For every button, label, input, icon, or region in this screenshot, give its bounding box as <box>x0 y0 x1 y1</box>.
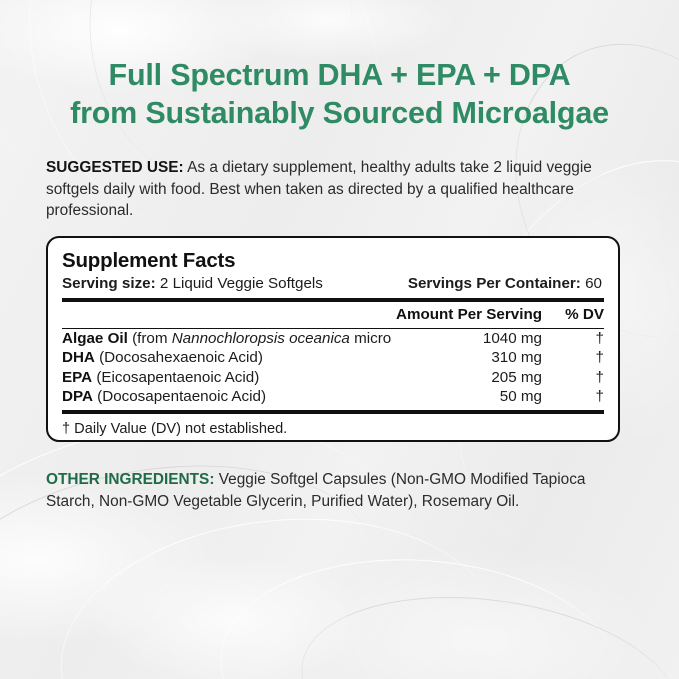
table-row: EPA (Eicosapentaenoic Acid) 205 mg † <box>62 368 604 387</box>
suggested-use-paragraph: SUGGESTED USE: As a dietary supplement, … <box>46 157 634 222</box>
suggested-use-label: SUGGESTED USE: <box>46 159 184 176</box>
nutrient-name-bold: Algae Oil <box>62 330 128 347</box>
other-ingredients-paragraph: OTHER INGREDIENTS: Veggie Softgel Capsul… <box>46 469 634 512</box>
nutrient-daily-value: † <box>542 348 604 367</box>
nutrient-daily-value: † <box>542 387 604 406</box>
nutrient-name-pre: (Docosahexaenoic Acid) <box>95 349 263 366</box>
servings-per-container: Servings Per Container: 60 <box>408 274 602 294</box>
serving-size-label: Serving size: <box>62 275 156 292</box>
nutrient-name-pre: (Eicosapentaenoic Acid) <box>92 369 259 386</box>
page-title-line-2: from Sustainably Sourced Microalgae <box>40 94 639 132</box>
nutrient-daily-value: † <box>542 329 604 348</box>
nutrient-amount: 50 mg <box>392 387 542 406</box>
nutrient-daily-value: † <box>542 368 604 387</box>
nutrient-name: Algae Oil (from Nannochloropsis oceanica… <box>62 329 392 348</box>
supplement-facts-panel: Supplement Facts Serving size: 2 Liquid … <box>46 236 620 442</box>
daily-value-footnote: † Daily Value (DV) not established. <box>62 414 604 439</box>
table-row: Algae Oil (from Nannochloropsis oceanica… <box>62 329 604 348</box>
serving-size-value: 2 Liquid Veggie Softgels <box>156 275 323 292</box>
other-ingredients-label: OTHER INGREDIENTS: <box>46 471 214 488</box>
nutrient-name-bold: DHA <box>62 349 95 366</box>
table-row: DHA (Docosahexaenoic Acid) 310 mg † <box>62 348 604 367</box>
nutrient-name: DHA (Docosahexaenoic Acid) <box>62 348 392 367</box>
nutrient-amount: 310 mg <box>392 348 542 367</box>
nutrient-name-pre: (from <box>128 330 172 347</box>
nutrient-name-post: microalgae) <box>350 330 392 347</box>
page-title: Full Spectrum DHA + EPA + DPA from Susta… <box>40 56 639 132</box>
background-wisp <box>289 574 679 679</box>
nutrient-name: DPA (Docosapentaenoic Acid) <box>62 387 392 406</box>
serving-info-row: Serving size: 2 Liquid Veggie Softgels S… <box>62 274 604 294</box>
nutrient-name-italic: Nannochloropsis oceanica <box>172 330 350 347</box>
serving-size: Serving size: 2 Liquid Veggie Softgels <box>62 274 323 294</box>
nutrient-name-bold: EPA <box>62 369 92 386</box>
nutrient-amount: 205 mg <box>392 368 542 387</box>
background-wisp <box>48 498 514 679</box>
nutrient-name-bold: DPA <box>62 388 93 405</box>
page-title-line-1: Full Spectrum DHA + EPA + DPA <box>109 58 571 92</box>
column-header-amount: Amount Per Serving <box>354 304 542 326</box>
column-headers-row: Amount Per Serving % DV <box>62 302 604 328</box>
supplement-facts-title: Supplement Facts <box>62 249 604 273</box>
servings-per-container-value: 60 <box>581 275 602 292</box>
nutrient-name-pre: (Docosapentaenoic Acid) <box>93 388 266 405</box>
column-header-daily-value: % DV <box>542 304 604 326</box>
background-wisp <box>213 546 628 679</box>
table-row: DPA (Docosapentaenoic Acid) 50 mg † <box>62 387 604 406</box>
nutrient-amount: 1040 mg <box>392 329 542 348</box>
servings-per-container-label: Servings Per Container: <box>408 275 581 292</box>
label-page: Full Spectrum DHA + EPA + DPA from Susta… <box>0 0 679 679</box>
nutrient-name: EPA (Eicosapentaenoic Acid) <box>62 368 392 387</box>
